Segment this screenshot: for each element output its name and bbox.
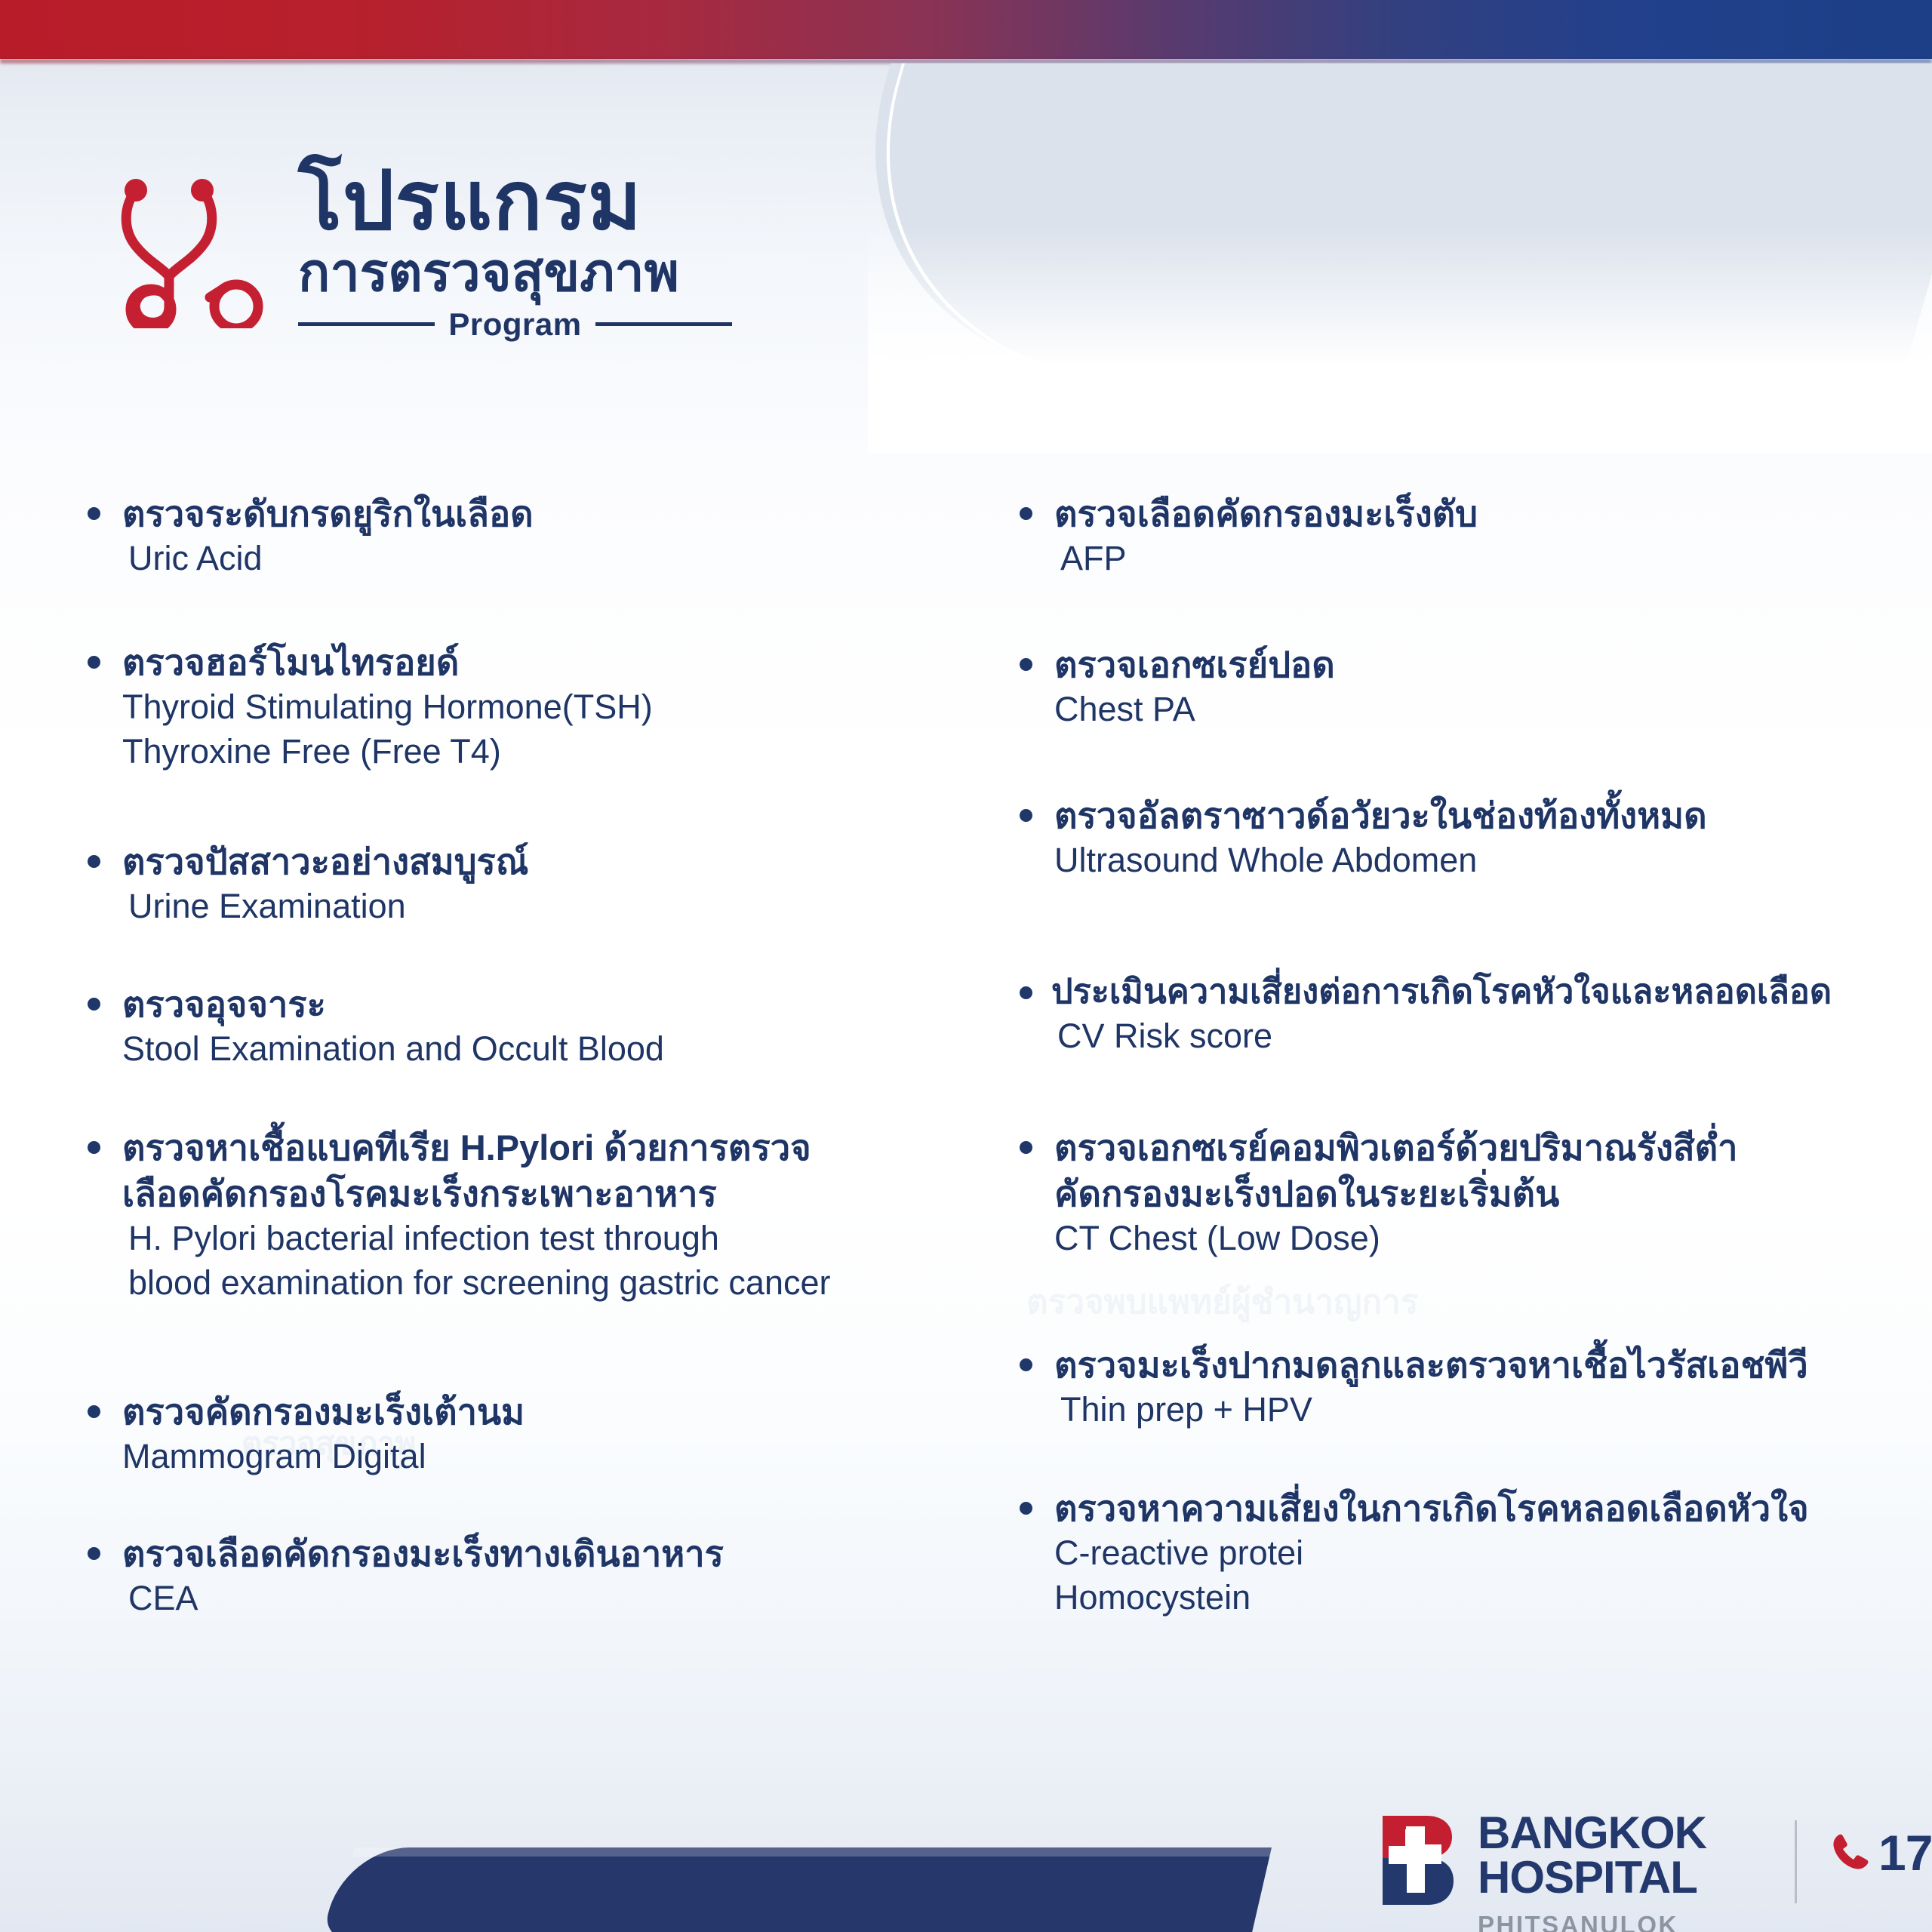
item-thai: ตรวจอุจจาระ (122, 981, 664, 1027)
rule-left (298, 322, 435, 326)
item-english: Uric Acid (122, 537, 534, 581)
item-english: Thyroid Stimulating Hormone(TSH) (122, 685, 653, 730)
item-english: H. Pylori bacterial infection test throu… (122, 1217, 831, 1261)
bottom-navy-ribbon (322, 1847, 1272, 1932)
bangkok-hospital-logo-icon (1372, 1814, 1461, 1906)
item-english: AFP (1054, 537, 1478, 581)
bullet-icon (1020, 1502, 1032, 1515)
phone-icon (1829, 1830, 1871, 1876)
item-thai: ตรวจหาเชื้อแบคทีเรีย H.Pylori ด้วยการตรว… (122, 1124, 831, 1171)
list-item: ตรวจมะเร็งปากมดลูกและตรวจหาเชื้อไวรัสเอช… (1008, 1342, 1808, 1432)
item-english: Ultrasound Whole Abdomen (1054, 838, 1707, 883)
list-item: ตรวจเลือดคัดกรองมะเร็งทางเดินอาหาร CEA (75, 1531, 724, 1621)
program-header: โปรแกรม การตรวจสุขภาพ Program (113, 174, 943, 332)
item-thai: ตรวจเลือดคัดกรองมะเร็งตับ (1054, 491, 1478, 537)
list-item: ตรวจหาความเสี่ยงในการเกิดโรคหลอดเลือดหัว… (1008, 1485, 1809, 1620)
bullet-icon (1020, 809, 1032, 822)
item-english: CV Risk score (1051, 1014, 1832, 1059)
list-item: ตรวจคัดกรองมะเร็งเต้านม Mammogram Digita… (75, 1389, 525, 1479)
bullet-icon (1020, 1358, 1032, 1371)
list-item: ประเมินความเสี่ยงต่อการเกิดโรคหัวใจและหล… (1008, 970, 1832, 1058)
item-thai: ตรวจอัลตราซาวด์อวัยวะในช่องท้องทั้งหมด (1054, 792, 1707, 838)
item-thai: ตรวจหาความเสี่ยงในการเกิดโรคหลอดเลือดหัว… (1054, 1485, 1809, 1531)
bullet-icon (1020, 1141, 1032, 1154)
item-thai: ประเมินความเสี่ยงต่อการเกิดโรคหัวใจและหล… (1051, 970, 1832, 1014)
list-item: ตรวจฮอร์โมนไทรอยด์ Thyroid Stimulating H… (75, 639, 653, 774)
infographic-page: ตรวจพบแพทย์ผู้ชำนาญการ ตรวจสุขภาพ โป (0, 0, 1932, 1932)
item-thai: ตรวจเอกซเรย์คอมพิวเตอร์ด้วยปริมาณรังสีต่… (1054, 1124, 1738, 1171)
item-english: Mammogram Digital (122, 1435, 525, 1479)
program-title-thai: โปรแกรม (298, 160, 826, 241)
item-english: C-reactive protei (1054, 1531, 1809, 1576)
program-label-en: Program (448, 306, 581, 343)
bullet-icon (88, 1547, 100, 1560)
footer-divider (1795, 1820, 1797, 1903)
bullet-icon (88, 1141, 100, 1154)
brand-line-bangkok: BANGKOK (1478, 1811, 1706, 1856)
item-thai: ตรวจเลือดคัดกรองมะเร็งทางเดินอาหาร (122, 1531, 724, 1577)
bullet-icon (88, 998, 100, 1011)
list-item: ตรวจปัสสาวะอย่างสมบูรณ์ Urine Examinatio… (75, 838, 528, 929)
item-english: Thyroxine Free (Free T4) (122, 730, 653, 774)
list-item: ตรวจหาเชื้อแบคทีเรีย H.Pylori ด้วยการตรว… (75, 1124, 831, 1305)
bottom-ribbon-highlight (352, 1847, 1272, 1857)
footer-logo-lockup: BANGKOK HOSPITAL PHITSANULOK 1719 (1372, 1811, 1915, 1932)
brand-wordmark: BANGKOK HOSPITAL PHITSANULOK (1478, 1811, 1706, 1932)
rule-right (595, 322, 732, 326)
brand-branch: PHITSANULOK (1478, 1911, 1706, 1932)
hotline-block[interactable]: 1719 (1829, 1828, 1932, 1878)
swoosh-fade-mask (868, 226, 1932, 453)
item-thai: ตรวจเอกซเรย์ปอด (1054, 641, 1335, 688)
program-label-rule: Program (298, 306, 732, 343)
item-english: blood examination for screening gastric … (122, 1261, 831, 1306)
list-item: ตรวจเอกซเรย์คอมพิวเตอร์ด้วยปริมาณรังสีต่… (1008, 1124, 1738, 1261)
item-english: Urine Examination (122, 884, 528, 929)
list-item: ตรวจเอกซเรย์ปอด Chest PA (1008, 641, 1335, 732)
item-english: Chest PA (1054, 688, 1335, 732)
item-thai: ตรวจปัสสาวะอย่างสมบูรณ์ (122, 838, 528, 884)
bullet-icon (1020, 507, 1032, 520)
bullet-icon (88, 1405, 100, 1418)
item-thai-cont: เลือดคัดกรองโรคมะเร็งกระเพาะอาหาร (122, 1171, 831, 1217)
bullet-icon (88, 855, 100, 868)
top-gradient-banner (0, 0, 1932, 59)
item-english: CT Chest (Low Dose) (1054, 1217, 1738, 1261)
item-thai: ตรวจระดับกรดยูริกในเลือด (122, 491, 534, 537)
bullet-icon (1020, 986, 1032, 999)
program-title-block: โปรแกรม การตรวจสุขภาพ Program (298, 160, 826, 343)
brand-line-hospital: HOSPITAL (1478, 1856, 1706, 1900)
bullet-icon (1020, 658, 1032, 671)
item-english: Homocystein (1054, 1576, 1809, 1620)
item-english: CEA (122, 1577, 724, 1621)
bullet-icon (88, 507, 100, 520)
item-thai: ตรวจคัดกรองมะเร็งเต้านม (122, 1389, 525, 1435)
stethoscope-icon (113, 174, 275, 328)
item-thai: ตรวจมะเร็งปากมดลูกและตรวจหาเชื้อไวรัสเอช… (1054, 1342, 1808, 1388)
bullet-icon (88, 656, 100, 669)
list-item: ตรวจอุจจาระ Stool Examination and Occult… (75, 981, 664, 1072)
item-thai-cont: คัดกรองมะเร็งปอดในระยะเริ่มต้น (1054, 1171, 1738, 1217)
list-item: ตรวจระดับกรดยูริกในเลือด Uric Acid (75, 491, 534, 581)
list-item: ตรวจอัลตราซาวด์อวัยวะในช่องท้องทั้งหมด U… (1008, 792, 1707, 883)
hotline-number: 1719 (1878, 1828, 1932, 1878)
program-subtitle-thai: การตรวจสุขภาพ (298, 245, 826, 302)
item-english: Thin prep + HPV (1054, 1388, 1808, 1432)
list-item: ตรวจเลือดคัดกรองมะเร็งตับ AFP (1008, 491, 1478, 581)
item-english: Stool Examination and Occult Blood (122, 1027, 664, 1072)
item-thai: ตรวจฮอร์โมนไทรอยด์ (122, 639, 653, 685)
ghost-watermark-text: ตรวจพบแพทย์ผู้ชำนาญการ (1026, 1275, 1418, 1328)
